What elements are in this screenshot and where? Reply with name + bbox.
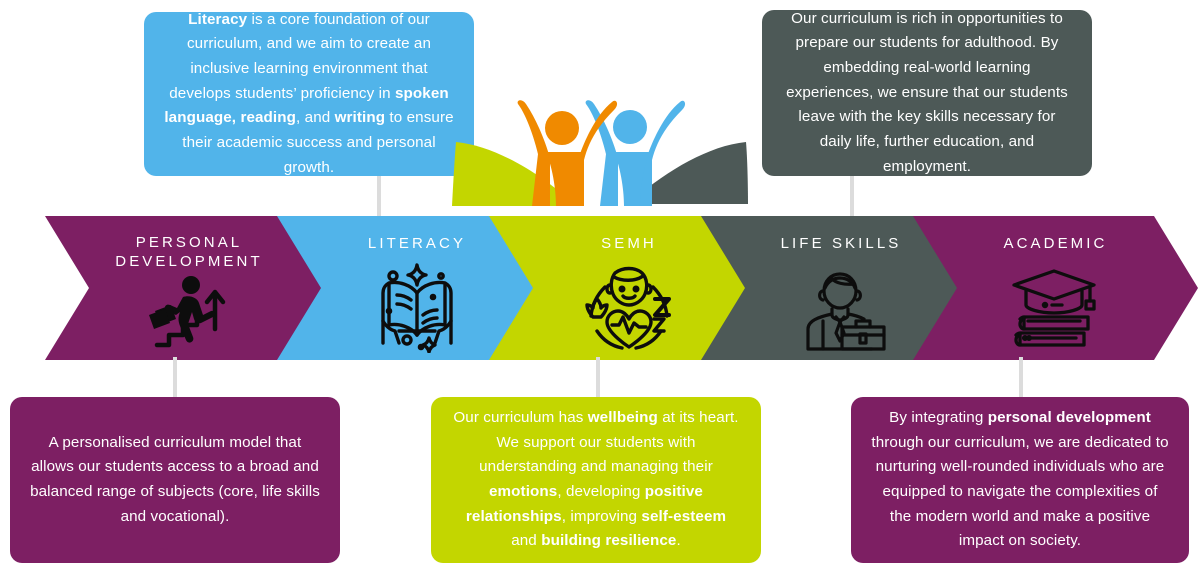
callout-semh-text: Our curriculum has wellbeing at its hear… (451, 406, 741, 554)
callout-semh: Our curriculum has wellbeing at its hear… (431, 397, 761, 563)
chevron-band: PERSONAL DEVELOPMENT (0, 216, 1198, 360)
connector-personal-development (173, 357, 177, 399)
connector-life-skills (850, 176, 854, 218)
chevron-academic[interactable]: ACADEMIC (913, 216, 1198, 360)
callout-literacy-text: Literacy is a core foundation of our cur… (164, 8, 454, 180)
connector-semh (596, 357, 600, 399)
callout-life-skills-text: Our curriculum is rich in opportunities … (782, 7, 1072, 179)
four-figures-logo (448, 96, 752, 218)
callout-academic-text: By integrating personal development thro… (871, 406, 1169, 554)
callout-literacy: Literacy is a core foundation of our cur… (144, 12, 474, 176)
chevron-shape (913, 216, 1198, 360)
connector-academic (1019, 357, 1023, 399)
logo-svg (448, 96, 752, 218)
callout-academic: By integrating personal development thro… (851, 397, 1189, 563)
infographic-canvas: Literacy is a core foundation of our cur… (0, 0, 1198, 571)
callout-personal-development: A personalised curriculum model that all… (10, 397, 340, 563)
callout-personal-development-text: A personalised curriculum model that all… (30, 431, 320, 530)
connector-literacy (377, 176, 381, 218)
callout-life-skills: Our curriculum is rich in opportunities … (762, 10, 1092, 176)
